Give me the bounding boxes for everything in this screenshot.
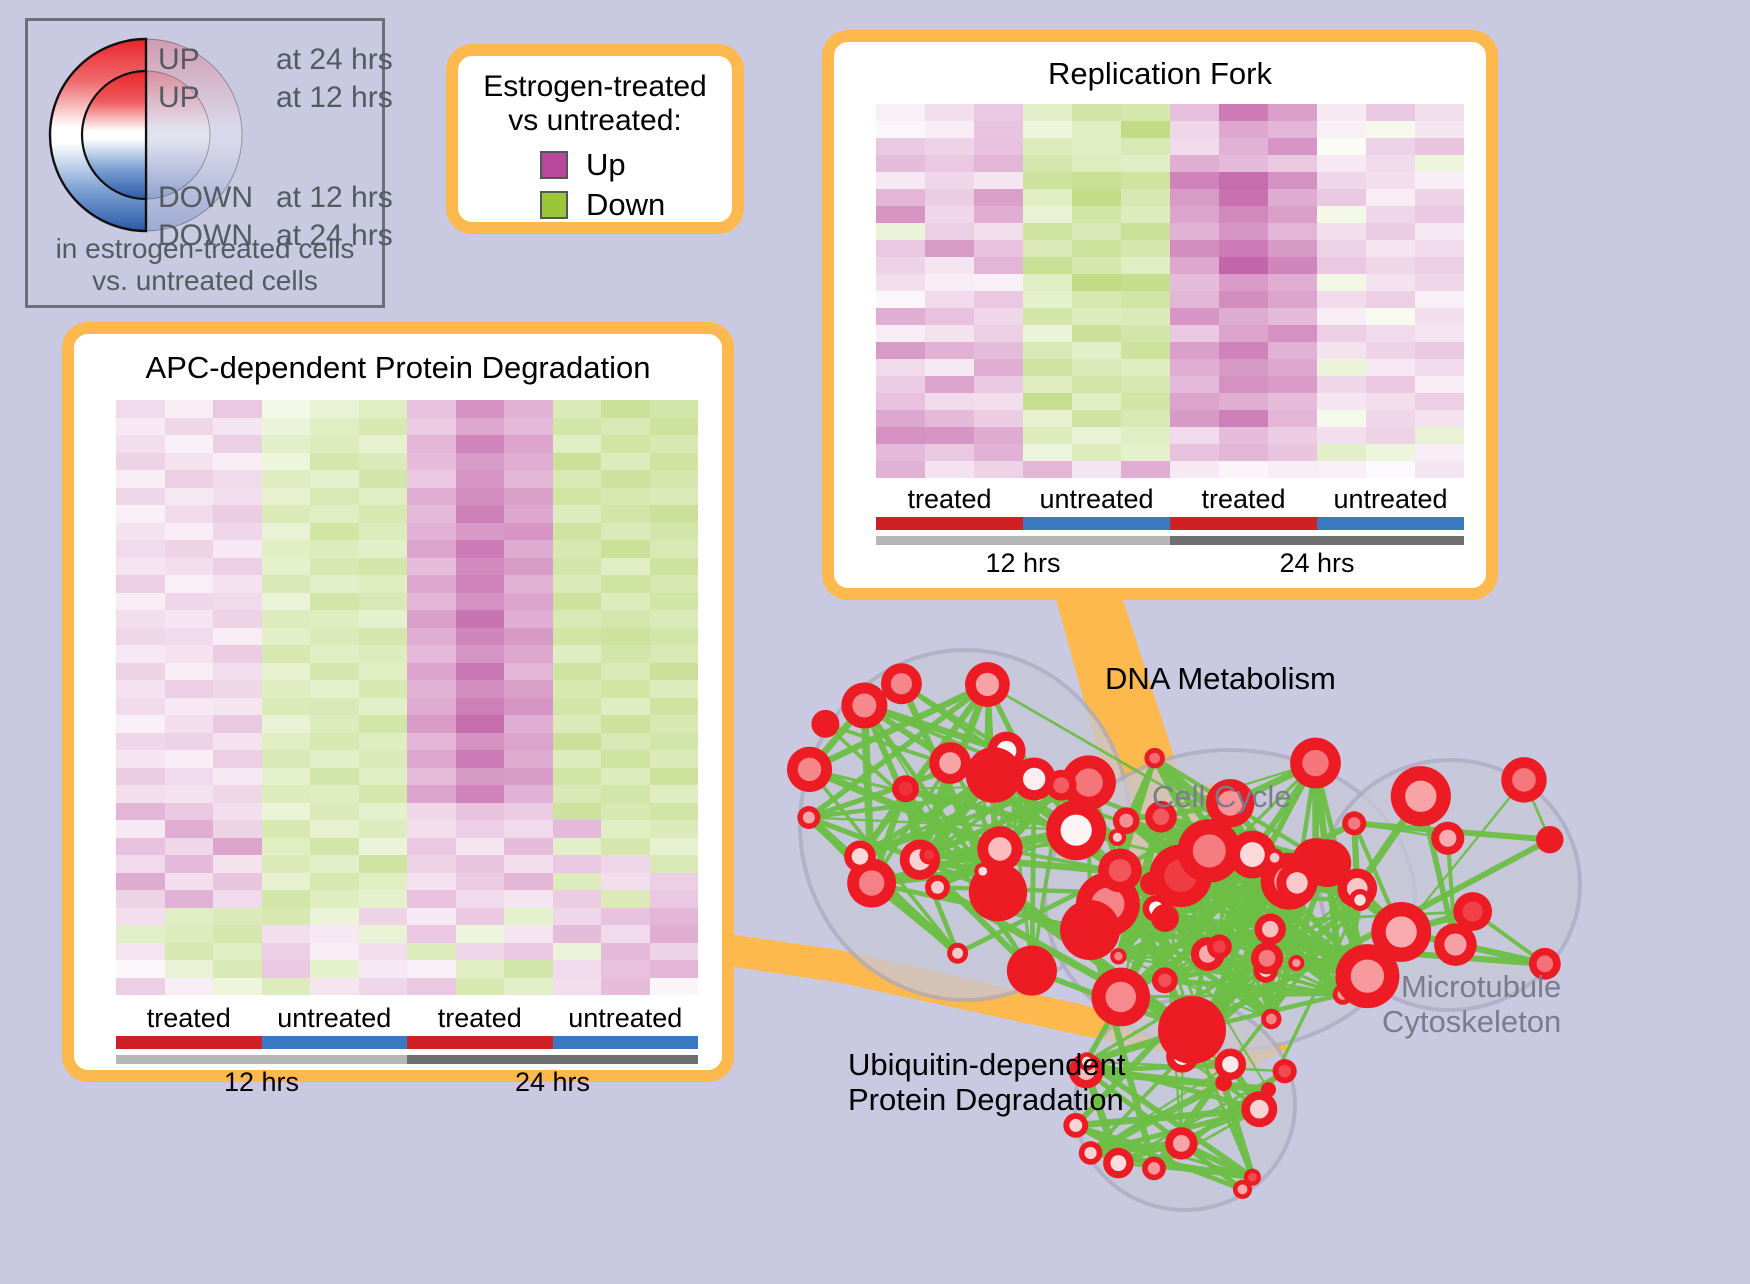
heatmap-cell <box>213 890 262 908</box>
heatmap-cell <box>1121 393 1170 410</box>
heatmap-cell <box>1317 376 1366 393</box>
replication-fork-axis: treated untreated treated untreated 12 h <box>876 484 1464 579</box>
heatmap-cell <box>553 768 602 786</box>
heatmap-cell <box>262 645 311 663</box>
heatmap-cell <box>1415 359 1464 376</box>
heatmap-cell <box>116 488 165 506</box>
heatmap-cell <box>407 628 456 646</box>
heatmap-cell <box>310 750 359 768</box>
apc-title: APC-dependent Protein Degradation <box>74 350 722 386</box>
network-node-core <box>988 837 1012 861</box>
heatmap-cell <box>601 523 650 541</box>
heatmap-cell <box>213 610 262 628</box>
heatmap-cell <box>925 172 974 189</box>
heatmap-cell <box>1121 376 1170 393</box>
heatmap-cell <box>1415 104 1464 121</box>
heatmap-cell <box>974 206 1023 223</box>
network-label-cell-cycle: Cell Cycle <box>1152 780 1292 815</box>
heatmap-cell <box>1170 325 1219 342</box>
heatmap-cell <box>407 890 456 908</box>
heatmap-cell <box>165 400 214 418</box>
heatmap-cell <box>310 505 359 523</box>
heatmap-cell <box>601 925 650 943</box>
heatmap-cell <box>1121 427 1170 444</box>
heatmap-cell <box>213 733 262 751</box>
heatmap-cell <box>650 435 699 453</box>
heatmap-cell <box>165 418 214 436</box>
heatmap-cell <box>1366 308 1415 325</box>
heatmap-cell <box>1268 461 1317 478</box>
heatmap-cell <box>213 750 262 768</box>
heatmap-cell <box>1121 308 1170 325</box>
heatmap-cell <box>359 488 408 506</box>
heatmap-cell <box>553 943 602 961</box>
heatmap-cell <box>165 803 214 821</box>
heatmap-cell <box>1072 240 1121 257</box>
heatmap-cell <box>974 291 1023 308</box>
heatmap-cell <box>974 104 1023 121</box>
heatmap-cell <box>974 376 1023 393</box>
heatmap-cell <box>876 138 925 155</box>
heatmap-cell <box>974 257 1023 274</box>
heatmap-cell <box>504 523 553 541</box>
heatmap-cell <box>925 410 974 427</box>
heatmap-cell <box>310 680 359 698</box>
heatmap-cell <box>553 418 602 436</box>
heatmap-cell <box>650 523 699 541</box>
heatmap-cell <box>1219 410 1268 427</box>
heatmap-cell <box>165 453 214 471</box>
apc-heatmap <box>116 400 698 995</box>
heatmap-cell <box>553 873 602 891</box>
heatmap-cell <box>1121 325 1170 342</box>
axis-group-label: treated <box>1170 484 1317 515</box>
heatmap-cell <box>1219 257 1268 274</box>
network-node-core <box>1061 815 1092 846</box>
network-node-core <box>1250 1100 1269 1119</box>
heatmap-cell <box>213 505 262 523</box>
heatmap-cell <box>650 873 699 891</box>
heatmap-cell <box>407 435 456 453</box>
heatmap-cell <box>1268 155 1317 172</box>
ring-legend-time: at 24 hrs <box>276 43 393 77</box>
heatmap-cell <box>1219 291 1268 308</box>
heatmap-cell <box>1268 172 1317 189</box>
heatmap-cell <box>876 308 925 325</box>
heatmap-cell <box>116 838 165 856</box>
heatmap-cell <box>407 453 456 471</box>
heatmap-cell <box>876 393 925 410</box>
heatmap-cell <box>262 978 311 996</box>
heatmap-cell <box>116 540 165 558</box>
heatmap-cell <box>1268 342 1317 359</box>
heatmap-cell <box>456 680 505 698</box>
heatmap-cell <box>1170 359 1219 376</box>
heatmap-cell <box>262 628 311 646</box>
heatmap-cell <box>504 803 553 821</box>
heatmap-cell <box>1072 308 1121 325</box>
heatmap-cell <box>504 890 553 908</box>
heatmap-cell <box>359 820 408 838</box>
heatmap-cell <box>407 960 456 978</box>
heatmap-cell <box>456 838 505 856</box>
heatmap-cell <box>876 257 925 274</box>
heatmap-cell <box>359 785 408 803</box>
heatmap-cell <box>650 505 699 523</box>
heatmap-cell <box>650 855 699 873</box>
heatmap-cell <box>925 325 974 342</box>
heatmap-cell <box>407 820 456 838</box>
heatmap-cell <box>116 523 165 541</box>
heatmap-cell <box>1366 274 1415 291</box>
heatmap-cell <box>1170 274 1219 291</box>
ring-legend-direction: DOWN <box>158 181 276 215</box>
heatmap-cell <box>1121 206 1170 223</box>
ring-legend-row: DOWN at 12 hrs <box>158 181 393 219</box>
heatmap-cell <box>504 768 553 786</box>
heatmap-cell <box>650 733 699 751</box>
heatmap-cell <box>116 890 165 908</box>
network-node <box>1007 946 1057 996</box>
heatmap-cell <box>601 488 650 506</box>
heatmap-cell <box>1023 240 1072 257</box>
heatmap-cell <box>359 523 408 541</box>
heatmap-cell <box>262 925 311 943</box>
heatmap-cell <box>650 470 699 488</box>
heatmap-cell <box>1415 257 1464 274</box>
heatmap-cell <box>116 855 165 873</box>
heatmap-cell <box>1072 104 1121 121</box>
heatmap-cell <box>601 838 650 856</box>
heatmap-cell <box>1268 427 1317 444</box>
up-swatch <box>540 151 568 179</box>
heatmap-cell <box>1219 274 1268 291</box>
axis-group-label: untreated <box>1317 484 1464 515</box>
heatmap-cell <box>213 715 262 733</box>
network-node-core <box>1222 1056 1238 1072</box>
heatmap-cell <box>359 978 408 996</box>
heatmap-cell <box>165 470 214 488</box>
heatmap-cell <box>213 418 262 436</box>
heatmap-cell <box>1317 206 1366 223</box>
heatmap-cell <box>407 540 456 558</box>
heatmap-cell <box>1415 155 1464 172</box>
network-node-core <box>1114 952 1123 961</box>
heatmap-cell <box>165 925 214 943</box>
heatmap-cell <box>407 873 456 891</box>
network-node-core <box>1213 940 1226 953</box>
heatmap-cell <box>262 943 311 961</box>
heatmap-cell <box>310 803 359 821</box>
heatmap-cell <box>650 488 699 506</box>
heatmap-cell <box>407 855 456 873</box>
heatmap-cell <box>504 978 553 996</box>
treatment-bar-segment <box>1023 517 1170 530</box>
heatmap-cell <box>1121 291 1170 308</box>
heatmap-cell <box>1023 138 1072 155</box>
network-node-core <box>1238 1184 1248 1194</box>
heatmap-cell <box>407 785 456 803</box>
heatmap-cell <box>553 488 602 506</box>
heatmap-cell <box>601 715 650 733</box>
heatmap-cell <box>1023 427 1072 444</box>
heatmap-cell <box>1121 172 1170 189</box>
heatmap-cell <box>456 593 505 611</box>
heatmap-cell <box>553 575 602 593</box>
heatmap-cell <box>213 645 262 663</box>
heatmap-cell <box>504 943 553 961</box>
heatmap-cell <box>262 488 311 506</box>
heatmap-cell <box>1072 342 1121 359</box>
heatmap-cell <box>1072 121 1121 138</box>
axis-group-label: treated <box>876 484 1023 515</box>
heatmap-cell <box>116 733 165 751</box>
heatmap-cell <box>456 435 505 453</box>
time-bar-segment <box>116 1055 407 1064</box>
heatmap-cell <box>876 189 925 206</box>
heatmap-cell <box>504 698 553 716</box>
heatmap-cell <box>407 575 456 593</box>
heatmap-cell <box>310 435 359 453</box>
heatmap-cell <box>1415 308 1464 325</box>
heatmap-cell <box>213 680 262 698</box>
heatmap-cell <box>1219 444 1268 461</box>
heatmap-cell <box>1023 308 1072 325</box>
network-node-core <box>1158 974 1171 987</box>
heatmap-cell <box>601 575 650 593</box>
heatmap-cell <box>359 803 408 821</box>
heatmap-cell <box>876 376 925 393</box>
heatmap-cell <box>262 768 311 786</box>
heatmap-cell <box>601 663 650 681</box>
heatmap-cell <box>553 855 602 873</box>
heatmap-cell <box>213 400 262 418</box>
heatmap-cell <box>262 715 311 733</box>
heatmap-cell <box>165 610 214 628</box>
heatmap-cell <box>213 960 262 978</box>
heatmap-cell <box>310 768 359 786</box>
heatmap-cell <box>310 593 359 611</box>
heatmap-cell <box>1366 342 1415 359</box>
heatmap-cell <box>1317 410 1366 427</box>
heatmap-cell <box>1268 104 1317 121</box>
axis-group-label: treated <box>407 1003 553 1034</box>
heatmap-cell <box>1121 138 1170 155</box>
heatmap-cell <box>1023 325 1072 342</box>
heatmap-cell <box>1219 393 1268 410</box>
heatmap-cell <box>1023 155 1072 172</box>
heatmap-cell <box>601 418 650 436</box>
heatmap-cell <box>1366 121 1415 138</box>
heatmap-cell <box>213 523 262 541</box>
heatmap-cell <box>1219 308 1268 325</box>
network-node-core <box>1173 1135 1190 1152</box>
heatmap-cell <box>925 121 974 138</box>
heatmap-cell <box>925 308 974 325</box>
heatmap-cell <box>116 418 165 436</box>
heatmap-cell <box>116 803 165 821</box>
ring-legend-footer-line1: in estrogen-treated cells <box>28 233 382 265</box>
heatmap-cell <box>1219 121 1268 138</box>
heatmap-cell <box>1121 121 1170 138</box>
heatmap-cell <box>925 206 974 223</box>
replication-fork-panel: Replication Fork treated untreated treat… <box>822 30 1498 600</box>
network-node-core <box>939 752 961 774</box>
heatmap-cell <box>876 240 925 257</box>
heatmap-cell <box>1170 461 1219 478</box>
updown-legend-title-line2: vs untreated: <box>458 104 732 138</box>
heatmap-cell <box>974 155 1023 172</box>
heatmap-cell <box>553 890 602 908</box>
heatmap-cell <box>310 733 359 751</box>
heatmap-cell <box>553 785 602 803</box>
heatmap-cell <box>553 663 602 681</box>
axis-group-label: untreated <box>553 1003 699 1034</box>
heatmap-cell <box>1121 410 1170 427</box>
network-node-core <box>1292 959 1300 967</box>
axis-group-labels: treated untreated treated untreated <box>116 1003 698 1034</box>
heatmap-cell <box>1366 172 1415 189</box>
heatmap-cell <box>407 715 456 733</box>
heatmap-cell <box>974 172 1023 189</box>
heatmap-cell <box>1317 427 1366 444</box>
heatmap-cell <box>310 645 359 663</box>
heatmap-cell <box>650 698 699 716</box>
heatmap-cell <box>456 820 505 838</box>
heatmap-cell <box>1170 342 1219 359</box>
heatmap-cell <box>1415 325 1464 342</box>
heatmap-cell <box>165 733 214 751</box>
heatmap-cell <box>262 610 311 628</box>
heatmap-cell <box>116 785 165 803</box>
heatmap-cell <box>1072 410 1121 427</box>
heatmap-cell <box>116 873 165 891</box>
heatmap-cell <box>116 610 165 628</box>
network-node-core <box>1084 1147 1096 1159</box>
heatmap-cell <box>1415 206 1464 223</box>
heatmap-cell <box>165 488 214 506</box>
heatmap-cell <box>1415 172 1464 189</box>
heatmap-cell <box>974 359 1023 376</box>
heatmap-cell <box>310 978 359 996</box>
heatmap-cell <box>1415 376 1464 393</box>
ring-legend-time: at 12 hrs <box>276 181 393 215</box>
heatmap-cell <box>1072 274 1121 291</box>
replication-fork-heatmap <box>876 104 1464 478</box>
heatmap-cell <box>553 715 602 733</box>
legend-item-up: Up <box>540 145 732 185</box>
heatmap-cell <box>601 505 650 523</box>
heatmap-cell <box>1219 138 1268 155</box>
heatmap-cell <box>456 523 505 541</box>
heatmap-cell <box>650 750 699 768</box>
heatmap-cell <box>456 610 505 628</box>
heatmap-cell <box>359 890 408 908</box>
heatmap-cell <box>310 610 359 628</box>
network-node <box>1151 904 1179 932</box>
heatmap-cell <box>456 628 505 646</box>
heatmap-cell <box>1023 291 1072 308</box>
heatmap-cell <box>1268 240 1317 257</box>
heatmap-cell <box>553 435 602 453</box>
heatmap-cell <box>1415 444 1464 461</box>
heatmap-cell <box>310 925 359 943</box>
heatmap-cell <box>650 558 699 576</box>
ring-legend-box: UP at 24 hrs UP at 12 hrs DOWN at 12 hrs… <box>25 18 385 308</box>
heatmap-cell <box>1219 155 1268 172</box>
heatmap-cell <box>165 715 214 733</box>
heatmap-cell <box>504 418 553 436</box>
heatmap-cell <box>1415 223 1464 240</box>
pathway-network: DNA Metabolism Cell Cycle Microtubule Cy… <box>760 600 1750 1279</box>
heatmap-cell <box>213 540 262 558</box>
heatmap-cell <box>1121 257 1170 274</box>
heatmap-cell <box>262 575 311 593</box>
heatmap-cell <box>359 645 408 663</box>
network-node-core <box>1286 872 1307 893</box>
heatmap-cell <box>1023 359 1072 376</box>
heatmap-cell <box>407 925 456 943</box>
heatmap-cell <box>553 505 602 523</box>
heatmap-cell <box>1317 342 1366 359</box>
heatmap-cell <box>359 453 408 471</box>
heatmap-cell <box>553 820 602 838</box>
heatmap-cell <box>1023 172 1072 189</box>
heatmap-cell <box>456 733 505 751</box>
heatmap-cell <box>165 855 214 873</box>
heatmap-cell <box>1415 291 1464 308</box>
heatmap-cell <box>1366 138 1415 155</box>
heatmap-cell <box>876 274 925 291</box>
network-node-core <box>1106 982 1137 1013</box>
heatmap-cell <box>456 855 505 873</box>
heatmap-cell <box>650 838 699 856</box>
heatmap-cell <box>601 400 650 418</box>
heatmap-cell <box>876 325 925 342</box>
heatmap-cell <box>1317 308 1366 325</box>
heatmap-cell <box>165 890 214 908</box>
heatmap-cell <box>1268 189 1317 206</box>
heatmap-cell <box>1072 427 1121 444</box>
heatmap-cell <box>456 803 505 821</box>
heatmap-cell <box>456 960 505 978</box>
network-node-core <box>1248 1173 1257 1182</box>
heatmap-cell <box>310 785 359 803</box>
heatmap-cell <box>876 291 925 308</box>
heatmap-cell <box>1170 393 1219 410</box>
heatmap-cell <box>165 540 214 558</box>
heatmap-cell <box>1415 393 1464 410</box>
heatmap-cell <box>601 470 650 488</box>
heatmap-cell <box>213 978 262 996</box>
heatmap-cell <box>1366 240 1415 257</box>
heatmap-cell <box>925 155 974 172</box>
heatmap-cell <box>310 960 359 978</box>
heatmap-cell <box>925 342 974 359</box>
axis-time-label: 12 hrs <box>116 1067 407 1098</box>
network-node-core <box>976 673 999 696</box>
heatmap-cell <box>165 698 214 716</box>
heatmap-cell <box>650 453 699 471</box>
heatmap-cell <box>504 680 553 698</box>
heatmap-cell <box>553 610 602 628</box>
heatmap-cell <box>601 593 650 611</box>
heatmap-cell <box>310 820 359 838</box>
heatmap-cell <box>601 873 650 891</box>
heatmap-cell <box>1366 410 1415 427</box>
heatmap-cell <box>116 908 165 926</box>
heatmap-cell <box>925 138 974 155</box>
